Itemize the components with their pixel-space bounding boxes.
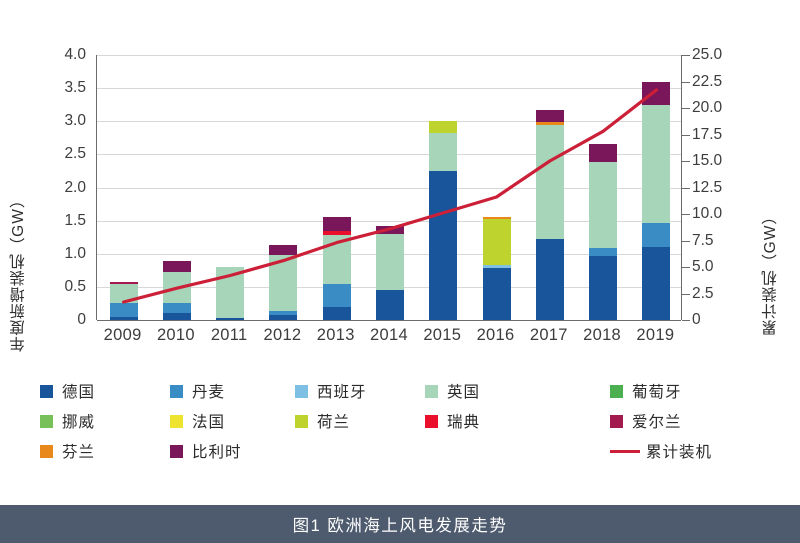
y-axis-right-tick-label: 15.0 — [692, 152, 752, 170]
legend-item-label: 荷兰 — [317, 410, 350, 432]
legend-item-label: 法国 — [192, 410, 225, 432]
y-axis-right-tick-mark — [682, 188, 690, 189]
figure-caption: 图1 欧洲海上风电发展走势 — [293, 512, 508, 536]
gridline — [97, 320, 681, 321]
y-axis-left-tick-label: 0.5 — [32, 278, 86, 296]
y-axis-right-tick-label: 12.5 — [692, 179, 752, 197]
plot-area — [96, 55, 682, 320]
legend-swatch-icon — [40, 385, 53, 398]
legend-swatch-icon — [610, 415, 623, 428]
legend-item-label: 英国 — [447, 380, 480, 402]
legend-item-德国[interactable]: 德国 — [40, 380, 95, 402]
legend-item-西班牙[interactable]: 西班牙 — [295, 380, 367, 402]
y-axis-right-tick-label: 0 — [692, 311, 752, 329]
legend-item-英国[interactable]: 英国 — [425, 380, 480, 402]
y-axis-left-title: 年度新增装机（GW） — [8, 191, 30, 352]
legend-line-icon — [610, 450, 640, 453]
legend-item-label: 瑞典 — [447, 410, 480, 432]
legend-item-法国[interactable]: 法国 — [170, 410, 225, 432]
y-axis-right-tick-label: 5.0 — [692, 258, 752, 276]
y-axis-left-tick-label: 3.5 — [32, 79, 86, 97]
y-axis-right-tick-mark — [682, 241, 690, 242]
y-axis-left-tick-label: 2.5 — [32, 145, 86, 163]
y-axis-left-tick-label: 4.0 — [32, 46, 86, 64]
legend-swatch-icon — [170, 445, 183, 458]
y-axis-right-tick-mark — [682, 108, 690, 109]
legend-line-label: 累计装机 — [646, 440, 712, 462]
legend-item-label: 挪威 — [62, 410, 95, 432]
y-axis-right-tick-label: 20.0 — [692, 99, 752, 117]
legend-item-葡萄牙[interactable]: 葡萄牙 — [610, 380, 682, 402]
legend-swatch-icon — [425, 415, 438, 428]
y-axis-right-tick-label: 22.5 — [692, 73, 752, 91]
legend-swatch-icon — [40, 445, 53, 458]
y-axis-left-tick-label: 1.5 — [32, 212, 86, 230]
y-axis-right-tick-label: 2.5 — [692, 285, 752, 303]
y-axis-right-tick-mark — [682, 161, 690, 162]
figure-container: 年度新增装机（GW） 累计装机（GW） 00.51.01.52.02.53.03… — [0, 0, 800, 543]
y-axis-right-tick-label: 7.5 — [692, 232, 752, 250]
y-axis-left-tick-label: 3.0 — [32, 112, 86, 130]
y-axis-left-tick-label: 0 — [32, 311, 86, 329]
legend-item-label: 西班牙 — [317, 380, 367, 402]
legend-swatch-icon — [40, 415, 53, 428]
y-axis-right-tick-mark — [682, 214, 690, 215]
legend-item-label: 比利时 — [192, 440, 242, 462]
y-axis-right-tick-mark — [682, 82, 690, 83]
caption-band: 图1 欧洲海上风电发展走势 — [0, 505, 800, 543]
legend-item-label: 芬兰 — [62, 440, 95, 462]
y-axis-left-tick-label: 2.0 — [32, 179, 86, 197]
y-axis-right-tick-label: 25.0 — [692, 46, 752, 64]
legend-item-荷兰[interactable]: 荷兰 — [295, 410, 350, 432]
legend-item-label: 爱尔兰 — [632, 410, 682, 432]
legend: 德国丹麦西班牙英国葡萄牙挪威法国荷兰瑞典爱尔兰芬兰比利时累计装机 — [40, 380, 760, 465]
legend-swatch-icon — [295, 415, 308, 428]
y-axis-right-tick-mark — [682, 320, 690, 321]
x-axis-tick-label: 2019 — [620, 326, 690, 345]
legend-item-瑞典[interactable]: 瑞典 — [425, 410, 480, 432]
legend-swatch-icon — [425, 385, 438, 398]
y-axis-right-tick-mark — [682, 135, 690, 136]
legend-item-label: 德国 — [62, 380, 95, 402]
legend-swatch-icon — [170, 385, 183, 398]
legend-swatch-icon — [170, 415, 183, 428]
legend-item-芬兰[interactable]: 芬兰 — [40, 440, 95, 462]
legend-swatch-icon — [610, 385, 623, 398]
legend-item-比利时[interactable]: 比利时 — [170, 440, 242, 462]
y-axis-left-tick-label: 1.0 — [32, 245, 86, 263]
y-axis-right-tick-mark — [682, 55, 690, 56]
cumulative-line-layer — [97, 55, 683, 320]
legend-item-label: 葡萄牙 — [632, 380, 682, 402]
legend-item-丹麦[interactable]: 丹麦 — [170, 380, 225, 402]
y-axis-right-tick-mark — [682, 294, 690, 295]
y-axis-right-tick-mark — [682, 267, 690, 268]
y-axis-right-title: 累计装机（GW） — [760, 208, 782, 336]
legend-item-挪威[interactable]: 挪威 — [40, 410, 95, 432]
y-axis-right-tick-label: 10.0 — [692, 205, 752, 223]
legend-item-爱尔兰[interactable]: 爱尔兰 — [610, 410, 682, 432]
cumulative-capacity-line — [124, 90, 657, 302]
legend-item-cumulative-line[interactable]: 累计装机 — [610, 440, 712, 462]
legend-swatch-icon — [295, 385, 308, 398]
y-axis-right-tick-label: 17.5 — [692, 126, 752, 144]
legend-item-label: 丹麦 — [192, 380, 225, 402]
